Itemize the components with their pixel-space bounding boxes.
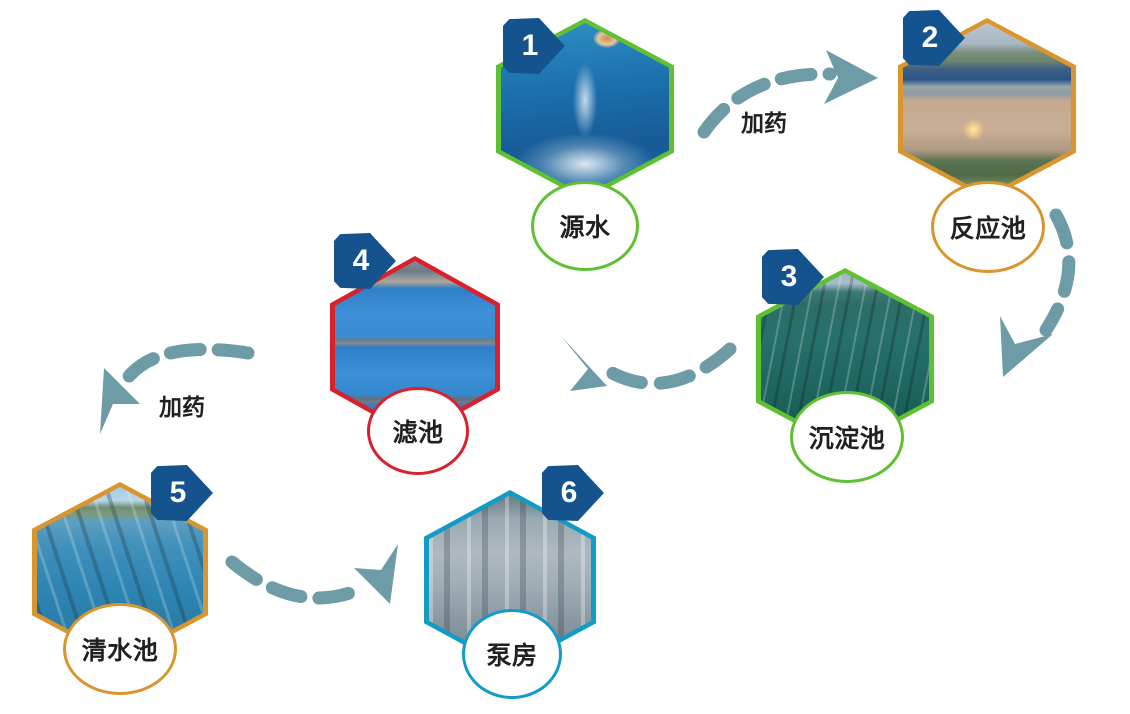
arrow-label-text: 加药: [159, 394, 205, 420]
step-caption-6[interactable]: 泵房: [462, 609, 562, 699]
step-label-3: 沉淀池: [809, 419, 886, 455]
step-label-2: 反应池: [950, 209, 1027, 245]
step-caption-4[interactable]: 滤池: [367, 387, 469, 475]
arrow-label-text: 加药: [741, 110, 787, 136]
arrow-3-to-4: [561, 336, 730, 391]
step-caption-3[interactable]: 沉淀池: [790, 391, 904, 483]
arrow-label-dosing-2: 加药: [159, 388, 205, 422]
step-label-1: 源水: [559, 208, 610, 244]
step-caption-2[interactable]: 反应池: [931, 181, 1045, 273]
step-number-4: 4: [353, 246, 370, 276]
step-number-2: 2: [922, 23, 939, 53]
arrow-1-to-2: [704, 50, 878, 132]
arrow-5-to-6: [232, 544, 398, 604]
step-number-3: 3: [781, 262, 798, 292]
arrow-label-dosing-1: 加药: [741, 104, 787, 138]
step-label-5: 清水池: [82, 631, 159, 667]
step-number-1: 1: [522, 31, 539, 61]
step-label-4: 滤池: [392, 413, 443, 449]
step-number-5: 5: [170, 478, 187, 508]
step-caption-5[interactable]: 清水池: [63, 603, 177, 695]
step-label-6: 泵房: [486, 636, 537, 672]
process-flow-diagram: 1 源水 2 反应池 3 沉淀池 4 滤池: [0, 0, 1130, 714]
step-caption-1[interactable]: 源水: [531, 181, 639, 271]
step-number-6: 6: [561, 478, 578, 508]
